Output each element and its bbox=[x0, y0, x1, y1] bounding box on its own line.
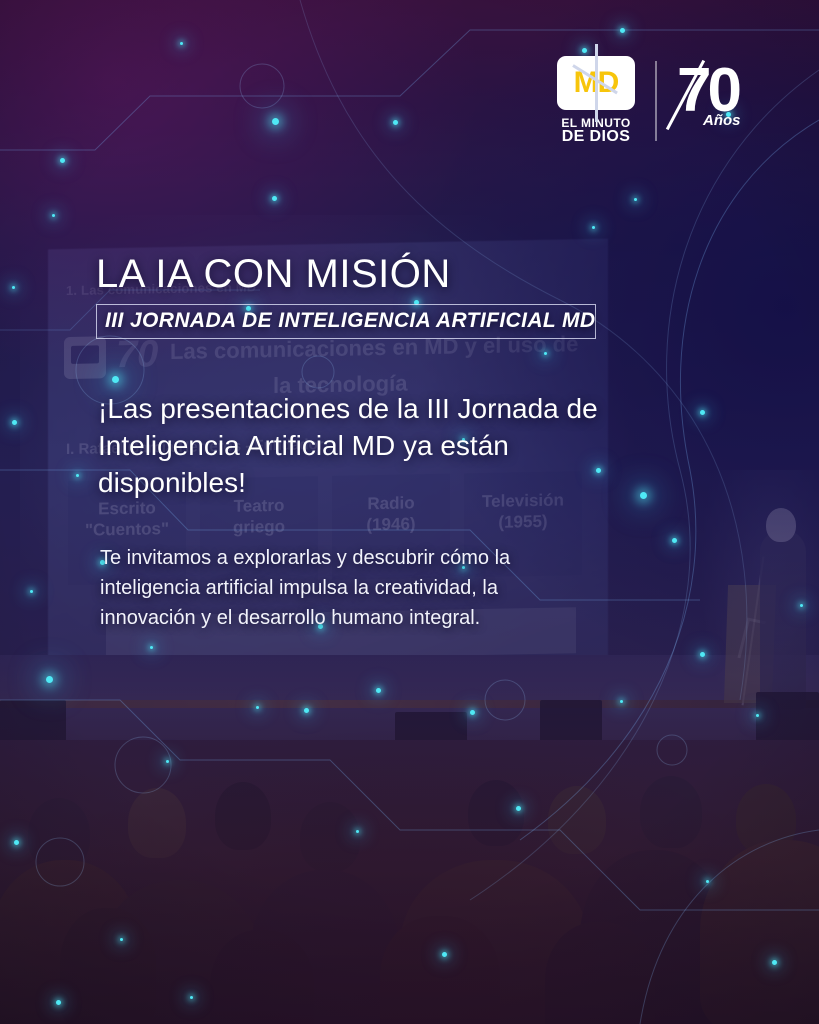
audience bbox=[0, 740, 819, 1024]
body-paragraph: Te invitamos a explorarlas y descubrir c… bbox=[100, 543, 580, 633]
event-subtitle: III JORNADA DE INTELIGENCIA ARTIFICIAL M… bbox=[96, 304, 596, 339]
speaker-figure bbox=[760, 530, 806, 710]
audience-head bbox=[548, 786, 606, 854]
poster-canvas: 1. Las comunicaciones en MD 70 Las comun… bbox=[0, 0, 819, 1024]
speaker-head bbox=[766, 508, 796, 542]
slide-card-bottom: "Cuentos" bbox=[68, 518, 186, 542]
stage-edge bbox=[0, 700, 819, 708]
audience-head bbox=[468, 780, 524, 846]
brand-logo-lockup[interactable]: MD EL MINUTO DE DIOS 70 Años bbox=[557, 56, 763, 146]
audience-head bbox=[215, 782, 271, 850]
anniversary-label: Años bbox=[703, 112, 741, 129]
slide-card-bottom: (1946) bbox=[332, 513, 450, 537]
md-badge-icon: MD bbox=[557, 56, 635, 110]
auditorium-photo: 1. Las comunicaciones en MD 70 Las comun… bbox=[0, 0, 819, 1024]
page-title: LA IA CON MISIÓN bbox=[96, 252, 451, 297]
anniversary-logo: 70 Años bbox=[677, 60, 763, 142]
audience-head bbox=[300, 802, 360, 872]
logo-divider bbox=[655, 61, 657, 141]
audience-head-front bbox=[545, 922, 655, 1024]
md-wordmark-line-2: DE DIOS bbox=[561, 129, 630, 146]
md-logo[interactable]: MD EL MINUTO DE DIOS bbox=[557, 56, 635, 146]
audience-body bbox=[700, 840, 819, 1024]
audience-head bbox=[128, 788, 186, 858]
slide-card-bottom: griego bbox=[200, 515, 318, 539]
slide-md-logo-icon bbox=[64, 336, 106, 379]
audience-head-front bbox=[380, 916, 500, 1024]
lead-paragraph: ¡Las presentaciones de la III Jornada de… bbox=[98, 391, 628, 502]
audience-head-front bbox=[210, 930, 314, 1024]
audience-head-front bbox=[60, 908, 156, 1024]
slide-anniversary-number: 70 bbox=[116, 333, 158, 377]
audience-head bbox=[640, 776, 702, 848]
slide-card-bottom: (1955) bbox=[464, 510, 582, 534]
